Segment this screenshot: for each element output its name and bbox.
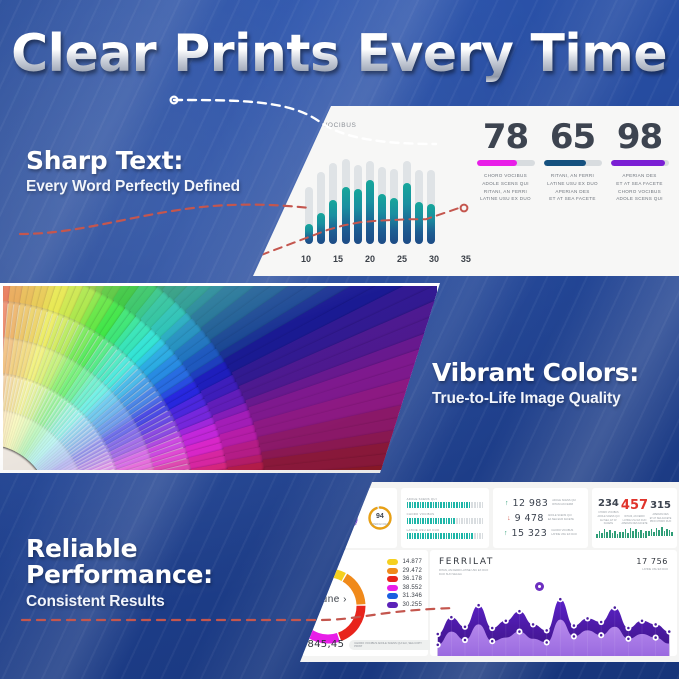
header-banner: Clear Prints Every Time [0, 14, 679, 94]
kpi-meter [544, 160, 602, 166]
legend-row: 38.552 [387, 585, 422, 591]
meter-row: ADOLE SCENS QUI [407, 497, 484, 509]
legend-value: 38.552 [402, 585, 422, 591]
kpi-meter-fill [544, 160, 587, 166]
area-chart-header: FERRILAT RITAN, AN FERRI LATINE USU EX D… [439, 557, 494, 578]
area-data-point [571, 633, 577, 639]
donut-legend: 14.87729.47236.17838.55231.34630.255 [387, 559, 422, 608]
area-data-point [625, 636, 631, 642]
feature-vibrant-colors: Vibrant Colors: True-to-Life Image Quali… [432, 360, 639, 408]
area-data-point [612, 605, 618, 611]
area-chart-subtitle: RITAN, AN FERRI LATINE USU EX DUODUO SUO… [439, 569, 494, 578]
kpi-value: 98 [617, 120, 662, 154]
legend-swatch [387, 576, 398, 582]
stat-value: 12 983 [513, 498, 549, 509]
legend-swatch [387, 568, 398, 574]
kpi-card: 98APERIAN DESET AT SEA FACETECHORO VOCIB… [606, 120, 673, 266]
kpi-meter [477, 160, 535, 166]
stat-row: ↑15 323CHORO VOCIBUSLATINE USU EX DUO [504, 528, 577, 539]
feature-reliable-performance-heading-1: Reliable [26, 536, 213, 562]
panel-color-fan [0, 283, 440, 473]
page-title: Clear Prints Every Time [12, 24, 668, 84]
meter-label: CHORO VOCIBUS [407, 512, 484, 516]
stat-caption: ADOLE SCENS QUIRITANI AN FERRI [552, 499, 576, 507]
meter-label: LATINE USU EX DUO [407, 528, 484, 532]
area-data-point [516, 608, 522, 614]
feature-sharp-text: Sharp Text: Every Word Perfectly Defined [26, 148, 240, 196]
legend-swatch [387, 593, 398, 599]
mini-chart: 315APERIAN DESET AT SEA FACETEPRIO CHORO… [648, 500, 673, 536]
mini-chart-bars [596, 528, 621, 538]
area-data-point [435, 642, 441, 648]
color-fan-deck [3, 286, 437, 470]
legend-row: 29.472 [387, 568, 422, 574]
area-data-point [476, 602, 482, 608]
meter-bar [407, 502, 484, 508]
area-chart-title: FERRILAT [439, 557, 494, 567]
mini-chart-bars [648, 526, 673, 536]
area-data-point [585, 615, 591, 621]
meter-label: ADOLE SCENS QUI [407, 497, 484, 501]
total-amount-row: $89.845,45 CHORO VOCIBUS ADOLE SCENS QUI… [300, 639, 444, 650]
dashboard-bottom-row: ‹ June › 14.87729.47236.17838.55231.3463… [300, 550, 679, 656]
kpi-value: 78 [483, 120, 528, 154]
legend-row: 31.346 [387, 593, 422, 599]
legend-value: 31.346 [402, 593, 422, 599]
gauge-value: 94 [367, 505, 393, 531]
stat-value: 9 478 [515, 513, 544, 524]
area-chart-total-caption: LATINE USU EX DUO [636, 568, 668, 571]
kpi-meter [611, 160, 669, 166]
area-data-point [666, 629, 672, 635]
meter-row: LATINE USU EX DUO [407, 528, 484, 540]
feature-vibrant-colors-sub: True-to-Life Image Quality [432, 390, 639, 408]
kpi-group: 78CHORO VOCIBUSADOLE SCENS QUIRITANI, AN… [468, 106, 679, 276]
area-chart-total: 17 756 [636, 557, 668, 566]
area-data-point [462, 637, 468, 643]
kpi-meter-fill [477, 160, 518, 166]
mini-chart-caption: APERIAN DESET AT SEA FACETEPRIO CHORO DU… [650, 513, 672, 524]
area-data-point [557, 596, 563, 602]
area-data-point [516, 629, 522, 635]
feature-vibrant-colors-heading: Vibrant Colors: [432, 360, 639, 386]
area-data-point [544, 639, 550, 645]
dashed-connector-colors [170, 92, 440, 152]
area-data-point [598, 632, 604, 638]
stat-group: ↑12 983ADOLE SCENS QUIRITANI AN FERRI↓9 … [493, 488, 588, 548]
area-data-point [639, 618, 645, 624]
meter-bar [407, 518, 484, 524]
arrow-up-icon: ↑ [505, 500, 509, 507]
area-data-point [489, 638, 495, 644]
legend-value: 36.178 [402, 576, 422, 582]
area-data-point [571, 623, 577, 629]
gauge: 94APERIAN DES [367, 505, 393, 531]
kpi-value: 65 [550, 120, 595, 154]
legend-swatch [387, 585, 398, 591]
mini-chart-value: 315 [650, 500, 671, 511]
meter-row: CHORO VOCIBUS [407, 512, 484, 524]
stat-row: ↓9 478ADOLE SCENS QUIEA SEA EUR FACETE [507, 513, 574, 524]
legend-value: 14.877 [402, 559, 422, 565]
area-data-point [530, 621, 536, 627]
area-data-point [503, 618, 509, 624]
mini-chart: 234CHORO VOCIBUSADOLE SCENS QUIEU SEA, E… [596, 498, 621, 537]
kpi-meter-fill [611, 160, 666, 166]
mini-chart-caption: CHORO VOCIBUSADOLE SCENS QUIEU SEA, ET A… [596, 511, 621, 525]
area-data-point [653, 621, 659, 627]
area-data-point [462, 624, 468, 630]
mini-chart-value: 457 [621, 498, 648, 513]
footer-pill-text: CHORO VOCIBUS ADOLE SCENS QUI EU, SEA CO… [354, 642, 430, 648]
area-data-point [653, 635, 659, 641]
mini-chart-group: 234CHORO VOCIBUSADOLE SCENS QUIEU SEA, E… [592, 488, 677, 548]
area-data-point [598, 619, 604, 625]
area-chart [430, 584, 677, 656]
area-data-point [544, 627, 550, 633]
feature-reliable-performance: Reliable Performance: Consistent Results [26, 536, 213, 611]
trendline-endpoint [461, 205, 468, 212]
stat-value: 15 323 [512, 528, 548, 539]
area-data-point [625, 625, 631, 631]
mini-chart-value: 234 [598, 498, 619, 509]
arrow-up-icon: ↑ [504, 530, 508, 537]
gauge-caption: APERIAN DES [367, 523, 393, 526]
legend-swatch [387, 559, 398, 565]
stat-caption: ADOLE SCENS QUIEA SEA EUR FACETE [548, 514, 574, 522]
mini-chart-caption: RITANI, AN FERRILATINE USU EX DUOAPERIAN… [621, 515, 647, 526]
stat-row: ↑12 983ADOLE SCENS QUIRITANI AN FERRI [505, 498, 576, 509]
legend-row: 36.178 [387, 576, 422, 582]
meter-bar [407, 533, 484, 539]
feature-reliable-performance-heading-2: Performance: [26, 562, 213, 588]
meter-group: ADOLE SCENS QUICHORO VOCIBUSLATINE USU E… [401, 488, 489, 548]
arrow-down-icon: ↓ [507, 515, 511, 522]
dashed-connector-performance [20, 604, 460, 634]
legend-value: 29.472 [402, 568, 422, 574]
kpi-caption: APERIAN DESET AT SEA FACETECHORO VOCIBUS… [616, 172, 663, 203]
area-chart-total-block: 17 756 LATINE USU EX DUO [636, 557, 668, 571]
kpi-caption: RITANI, AN FERRILATINE USU EX DUOAPERIAN… [547, 172, 598, 203]
feature-sharp-text-sub: Every Word Perfectly Defined [26, 178, 240, 196]
area-chart-card: FERRILAT RITAN, AN FERRI LATINE USU EX D… [430, 550, 677, 656]
stat-caption: CHORO VOCIBUSLATINE USU EX DUO [551, 529, 577, 537]
area-data-point [489, 625, 495, 631]
dashed-connector-sharp-text [18, 196, 318, 240]
mini-chart: 457RITANI, AN FERRILATINE USU EX DUOAPER… [621, 498, 648, 538]
area-chart-marker-icon [535, 582, 544, 591]
kpi-card: 65RITANI, AN FERRILATINE USU EX DUOAPERI… [539, 120, 606, 266]
mini-chart-bars [622, 528, 647, 538]
legend-row: 14.877 [387, 559, 422, 565]
